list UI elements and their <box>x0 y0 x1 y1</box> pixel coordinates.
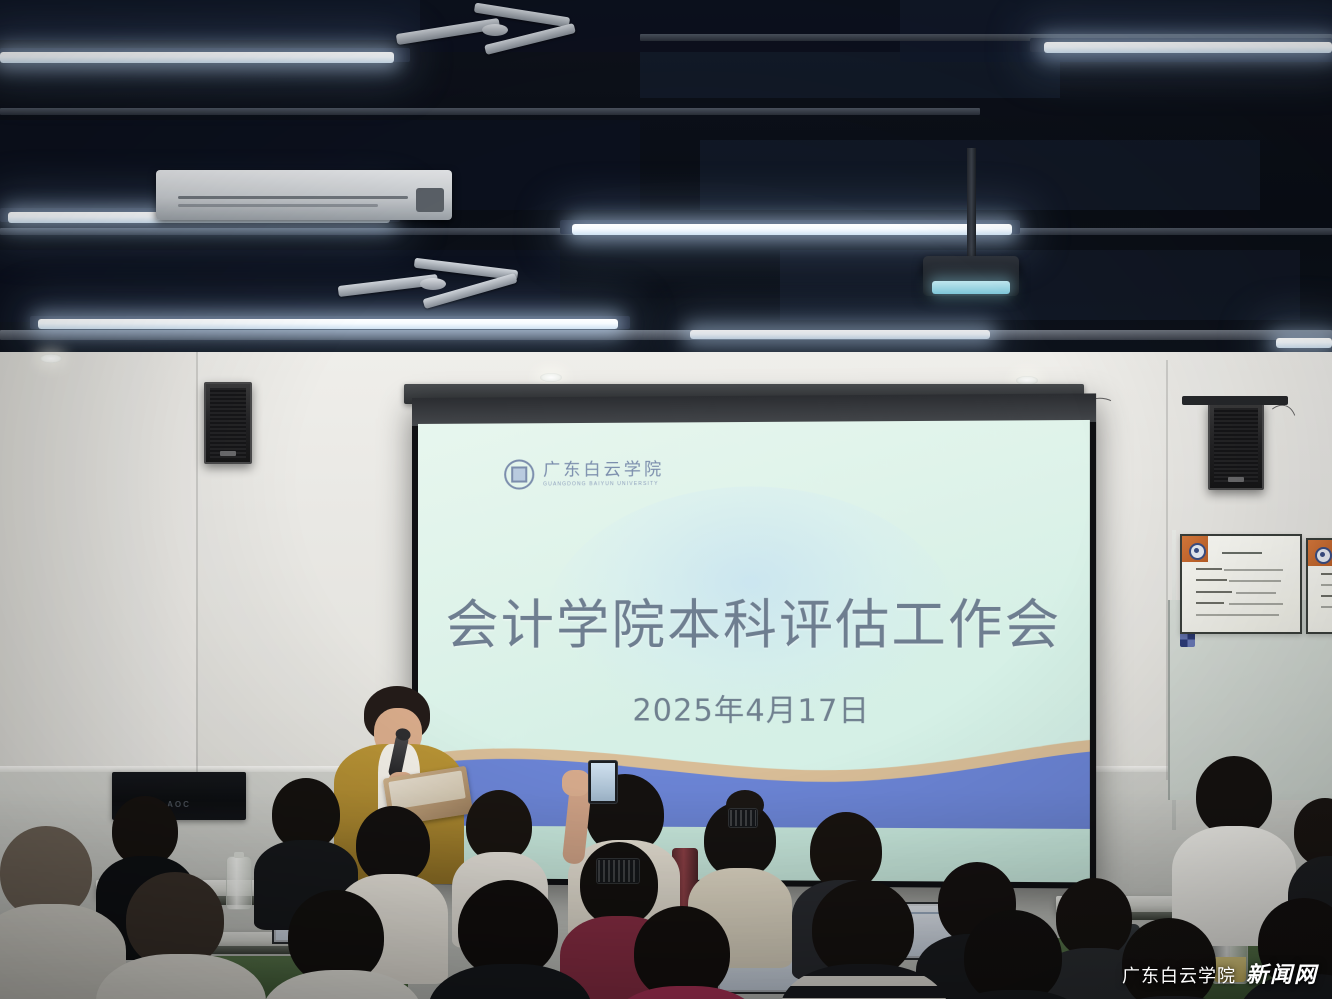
watermark-outlet: 新闻网 <box>1246 957 1318 989</box>
torso <box>608 986 764 999</box>
notice-poster <box>1306 538 1332 634</box>
audience-member <box>96 872 266 999</box>
whiteboard-magnet <box>1180 632 1195 647</box>
hair-clip <box>728 808 758 828</box>
audience-member <box>428 880 592 999</box>
air-conditioner <box>156 170 452 220</box>
audience-member <box>936 910 1094 999</box>
projector-lens <box>932 281 1010 294</box>
head <box>1196 756 1272 836</box>
head <box>964 910 1062 999</box>
audience-member <box>608 906 764 999</box>
notice-seal-icon <box>1315 547 1332 564</box>
torso <box>262 970 422 999</box>
watermark: 广东白云学院 新闻网 <box>1122 957 1318 989</box>
torso <box>936 990 1094 999</box>
university-name-en: GUANGDONG BAIYUN UNIVERSITY <box>543 482 664 488</box>
hand <box>562 770 590 796</box>
notice-poster <box>1180 534 1302 634</box>
ceiling-light-tube <box>572 224 1012 235</box>
ceiling-light-tube <box>1276 338 1332 348</box>
wall-left-column <box>0 352 196 782</box>
audience-member <box>262 890 422 999</box>
hair-clip <box>596 858 640 884</box>
torso <box>780 964 948 999</box>
bottle-cap <box>234 852 244 858</box>
projector-mount-pole <box>967 148 976 272</box>
wall-speaker-left <box>204 382 252 464</box>
head <box>356 806 430 884</box>
lecture-hall-photo: AOC 广东白云学院 <box>0 0 1332 999</box>
ceiling-light-tube <box>38 319 618 329</box>
projector <box>923 256 1019 296</box>
wall-speaker-right <box>1208 402 1264 490</box>
university-logo: 广东白云学院 GUANGDONG BAIYUN UNIVERSITY <box>504 459 664 490</box>
ceiling <box>0 0 1332 352</box>
university-name-cn: 广东白云学院 <box>543 462 664 480</box>
ceiling-fan <box>338 256 538 308</box>
torso <box>428 964 592 999</box>
ceiling-light-tube <box>690 330 990 339</box>
head <box>810 812 882 890</box>
recessed-downlight <box>540 373 562 382</box>
recessed-downlight <box>40 354 62 363</box>
smartphone <box>588 760 618 804</box>
notice-seal-icon <box>1189 543 1206 560</box>
audience-member <box>780 880 948 999</box>
torso <box>96 954 266 999</box>
ceiling-light-tube <box>1044 42 1332 53</box>
ceiling-light-tube <box>0 52 394 63</box>
ceiling-fan <box>396 4 596 60</box>
university-emblem-icon <box>504 460 534 490</box>
watermark-organization: 广东白云学院 <box>1122 962 1236 988</box>
slide-title: 会计学院本科评估工作会 <box>418 582 1090 659</box>
